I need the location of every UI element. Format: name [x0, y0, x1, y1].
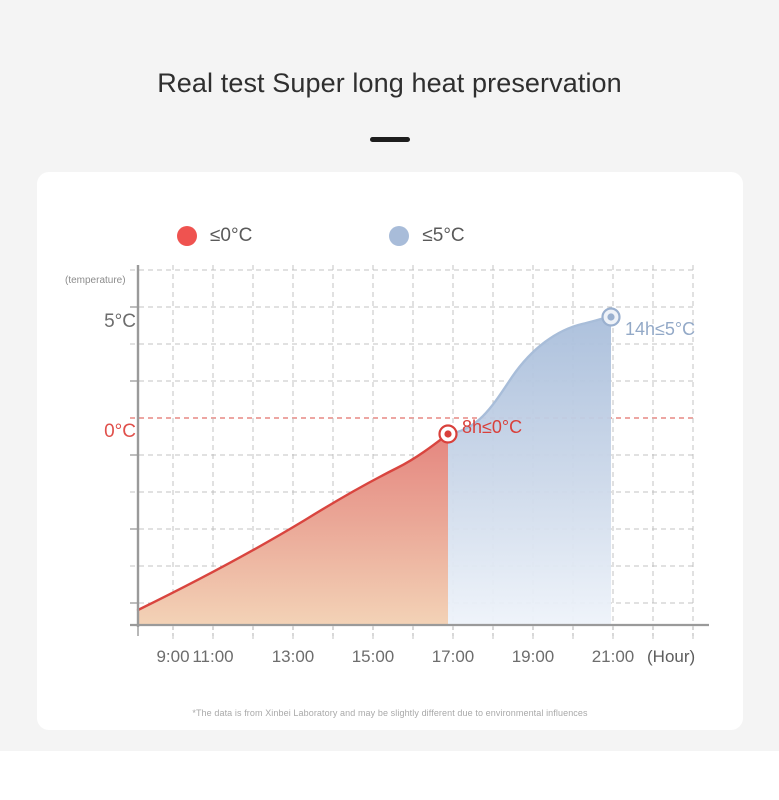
chart-card: ≤0°C ≤5°C [37, 172, 743, 730]
annotation-14h: 14h≤5°C [625, 319, 695, 340]
chart-footnote: *The data is from Xinbei Laboratory and … [37, 708, 743, 718]
x-tick-label-4: 17:00 [423, 647, 483, 667]
x-tick-label-1: 11:00 [183, 647, 243, 667]
page-root: Real test Super long heat preservation ≤… [0, 0, 779, 800]
page-title: Real test Super long heat preservation [0, 63, 779, 103]
x-tick-label-2: 13:00 [263, 647, 323, 667]
ring-marker-blue [603, 309, 620, 326]
chart-plot-area: (temperature) 5°C 0°C 9:00 11:00 13:00 1… [37, 172, 743, 730]
x-axis-unit-label: (Hour) [647, 647, 695, 667]
annotation-8h: 8h≤0°C [462, 417, 522, 438]
x-tick-label-5: 19:00 [503, 647, 563, 667]
y-tick-label-0c: 0°C [84, 421, 136, 443]
x-tick-label-6: 21:00 [583, 647, 643, 667]
title-divider [370, 137, 410, 142]
y-tick-label-5c: 5°C [84, 311, 136, 333]
y-axis-note: (temperature) [65, 275, 126, 286]
series-area-below-5c [448, 317, 611, 624]
ring-marker-red [440, 426, 457, 443]
x-axis-minor-ticks [173, 627, 693, 637]
x-tick-label-3: 15:00 [343, 647, 403, 667]
